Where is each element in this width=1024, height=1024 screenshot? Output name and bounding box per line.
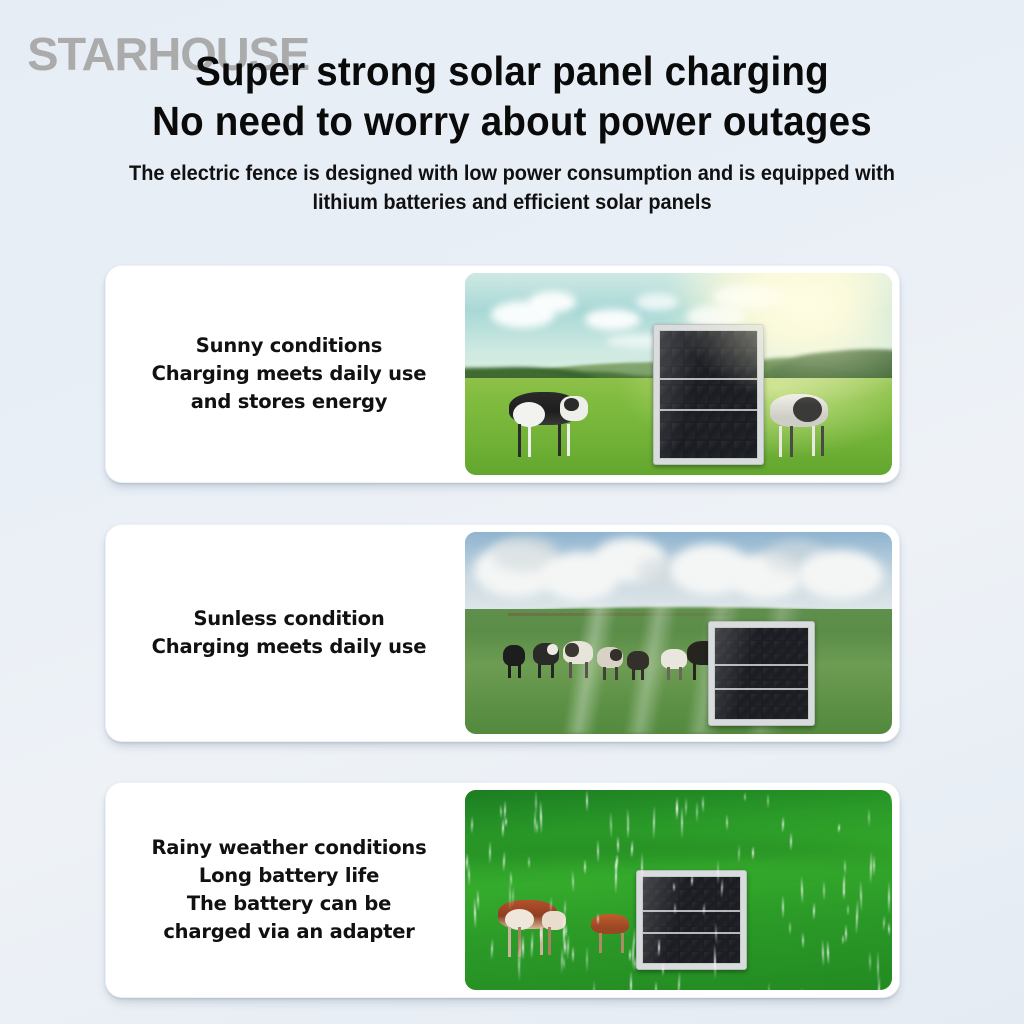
solar-cell: [715, 694, 725, 706]
solar-cell: [798, 681, 808, 693]
solar-cell: [672, 367, 683, 384]
solar-cell: [660, 331, 671, 348]
solar-cell: [798, 641, 808, 653]
header-block: Super strong solar panel charging No nee…: [0, 48, 1024, 217]
solar-cell: [751, 641, 761, 653]
solar-cell: [774, 641, 784, 653]
solar-cell: [786, 641, 796, 653]
solar-cell: [751, 668, 761, 680]
cow-illustration: [661, 649, 687, 679]
card-rainy-text: Rainy weather conditions Long battery li…: [113, 790, 465, 990]
solar-cell: [734, 331, 745, 348]
solar-cell: [746, 331, 757, 348]
infographic-canvas: STARHOUSE Super strong solar panel charg…: [0, 0, 1024, 1024]
solar-cell: [697, 331, 708, 348]
solar-cell: [798, 668, 808, 680]
solar-cell: [751, 707, 761, 719]
cow-illustration: [533, 643, 559, 677]
solar-cell: [739, 694, 749, 706]
solar-cell: [721, 349, 732, 366]
feature-card-sunless: Sunless condition Charging meets daily u…: [105, 524, 900, 742]
solar-cell: [734, 386, 745, 403]
solar-cell: [660, 349, 671, 366]
headline-line-2: No need to worry about power outages: [31, 98, 994, 145]
solar-cell: [739, 707, 749, 719]
solar-cell: [660, 423, 671, 440]
solar-cell: [697, 367, 708, 384]
solar-cell: [672, 331, 683, 348]
cow-illustration: [563, 641, 593, 677]
solar-cell: [672, 404, 683, 421]
solar-cell: [721, 367, 732, 384]
solar-cell: [721, 441, 732, 458]
card-sunless-image: [465, 532, 892, 734]
solar-cell: [746, 367, 757, 384]
solar-cell: [697, 441, 708, 458]
solar-cell: [709, 331, 720, 348]
solar-cell: [685, 367, 696, 384]
card-sunless-line-2: Charging meets daily use: [152, 635, 427, 658]
solar-cell: [739, 628, 749, 640]
solar-cell: [734, 404, 745, 421]
solar-cell: [774, 707, 784, 719]
solar-cell: [763, 694, 773, 706]
feature-card-sunny: Sunny conditions Charging meets daily us…: [105, 265, 900, 483]
cow-illustration: [627, 651, 648, 679]
headline-line-1: Super strong solar panel charging: [31, 48, 994, 95]
solar-cell: [798, 694, 808, 706]
solar-cell: [739, 641, 749, 653]
solar-cell: [715, 628, 725, 640]
solar-cell: [660, 367, 671, 384]
solar-cell: [774, 628, 784, 640]
solar-cell: [751, 628, 761, 640]
solar-cell: [786, 668, 796, 680]
solar-cell: [739, 668, 749, 680]
solar-cell: [672, 386, 683, 403]
card-sunny-line-2: Charging meets daily use: [152, 362, 427, 385]
solar-cell: [786, 681, 796, 693]
solar-cell: [734, 349, 745, 366]
solar-cell: [746, 441, 757, 458]
solar-cell: [786, 628, 796, 640]
solar-panel-illustration: [653, 324, 764, 465]
solar-cell: [727, 628, 737, 640]
solar-cell: [763, 641, 773, 653]
solar-cell: [751, 681, 761, 693]
solar-cell: [709, 441, 720, 458]
solar-cell: [721, 331, 732, 348]
solar-cell: [727, 694, 737, 706]
solar-cell: [672, 349, 683, 366]
card-sunny-line-1: Sunny conditions: [196, 334, 382, 357]
solar-cell: [685, 441, 696, 458]
solar-cell: [739, 681, 749, 693]
solar-cell: [697, 386, 708, 403]
solar-cell: [763, 707, 773, 719]
solar-cell: [672, 423, 683, 440]
solar-cell: [774, 668, 784, 680]
solar-cell: [727, 668, 737, 680]
solar-cell: [672, 441, 683, 458]
solar-cell: [685, 386, 696, 403]
solar-cell: [697, 349, 708, 366]
solar-cell: [709, 404, 720, 421]
solar-cell: [715, 668, 725, 680]
solar-cell: [746, 404, 757, 421]
solar-cell: [685, 423, 696, 440]
card-sunless-line-1: Sunless condition: [193, 607, 384, 630]
solar-cell: [709, 349, 720, 366]
card-rainy-image: [465, 790, 892, 990]
solar-panel-illustration: [708, 621, 815, 726]
solar-cell: [727, 641, 737, 653]
subtitle-line-1: The electric fence is designed with low …: [26, 159, 999, 188]
solar-cell: [721, 404, 732, 421]
feature-card-rainy: Rainy weather conditions Long battery li…: [105, 782, 900, 998]
solar-cell: [709, 423, 720, 440]
solar-cell: [709, 386, 720, 403]
solar-cell: [721, 386, 732, 403]
rain-overlay: [465, 790, 892, 990]
subtitle-line-2: lithium batteries and efficient solar pa…: [26, 188, 999, 217]
card-rainy-line-3: The battery can be: [187, 892, 391, 915]
solar-cell: [734, 441, 745, 458]
solar-cell: [774, 694, 784, 706]
solar-cell: [798, 628, 808, 640]
card-sunny-line-3: and stores energy: [191, 390, 388, 413]
solar-cell: [763, 681, 773, 693]
solar-cell: [660, 386, 671, 403]
card-rainy-line-2: Long battery life: [199, 864, 379, 887]
solar-cell: [697, 423, 708, 440]
solar-cell: [786, 694, 796, 706]
solar-cell: [798, 707, 808, 719]
solar-cell: [660, 404, 671, 421]
solar-cell: [685, 331, 696, 348]
solar-cell: [697, 404, 708, 421]
solar-cell: [721, 423, 732, 440]
card-sunless-text: Sunless condition Charging meets daily u…: [113, 532, 465, 734]
solar-cell: [734, 423, 745, 440]
solar-cell: [751, 694, 761, 706]
solar-cell: [727, 707, 737, 719]
card-sunny-text: Sunny conditions Charging meets daily us…: [113, 273, 465, 475]
solar-cell: [763, 628, 773, 640]
solar-cell: [715, 641, 725, 653]
card-rainy-line-4: charged via an adapter: [163, 920, 414, 943]
solar-cell: [715, 681, 725, 693]
card-sunny-image: [465, 273, 892, 475]
solar-cell: [685, 349, 696, 366]
solar-cell: [774, 681, 784, 693]
solar-cell: [709, 367, 720, 384]
cow-illustration: [503, 386, 597, 459]
card-rainy-line-1: Rainy weather conditions: [151, 836, 426, 859]
solar-cell: [746, 349, 757, 366]
solar-cell: [715, 707, 725, 719]
cow-illustration: [597, 647, 623, 679]
cow-illustration: [503, 645, 524, 677]
solar-cell: [734, 367, 745, 384]
solar-cell: [746, 386, 757, 403]
solar-cell: [763, 668, 773, 680]
solar-cell: [727, 681, 737, 693]
solar-cell: [685, 404, 696, 421]
cow-illustration: [764, 390, 841, 459]
solar-cell: [746, 423, 757, 440]
solar-cell: [786, 707, 796, 719]
solar-cell: [660, 441, 671, 458]
